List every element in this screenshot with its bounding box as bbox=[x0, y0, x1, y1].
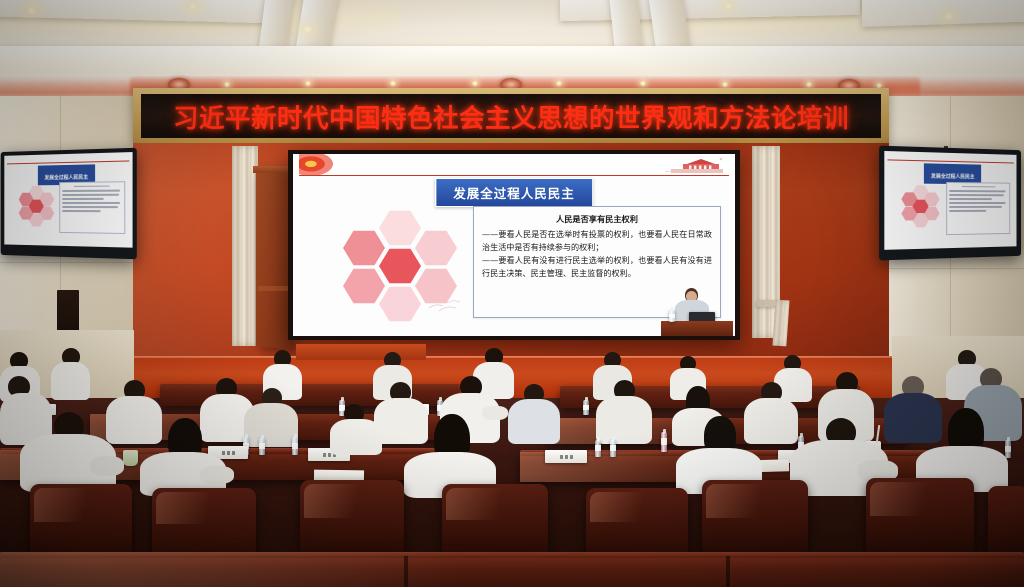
ceiling-downlight bbox=[24, 6, 39, 14]
podium-shelf bbox=[258, 286, 292, 291]
wall-seam bbox=[889, 268, 1024, 269]
hex-cell bbox=[415, 230, 457, 266]
chair bbox=[988, 486, 1024, 556]
chair bbox=[586, 488, 688, 556]
wall-monitor-right: 发展全过程人民民主 bbox=[879, 146, 1021, 261]
wall-monitor-left: 发展全过程人民民主 bbox=[1, 148, 137, 259]
water-bottle bbox=[259, 438, 265, 455]
soffit-pinlight bbox=[224, 82, 230, 87]
soffit-pinlight bbox=[722, 82, 728, 87]
textbox-paragraph: ——要看人民是否在选举时有投票的权利，也要看人民在日常政治生活中是否有持续参与的… bbox=[482, 228, 712, 253]
presenter-at-desk bbox=[661, 284, 733, 336]
monitor-hex-diagram bbox=[19, 185, 60, 231]
textbox-heading: 人民是否享有民主权利 bbox=[482, 213, 712, 225]
attendee bbox=[244, 388, 298, 444]
attendee bbox=[508, 384, 560, 442]
soffit-pinlight bbox=[472, 81, 478, 86]
water-bottle bbox=[583, 400, 589, 415]
hex-cell bbox=[343, 268, 385, 304]
soffit-pinlight bbox=[305, 81, 311, 86]
hex-cell-center bbox=[379, 248, 421, 284]
monitor-slide-header bbox=[884, 151, 1016, 164]
banner-text: 习近平新时代中国特色社会主义思想的世界观和方法论培训 bbox=[173, 98, 849, 135]
presenter-desk bbox=[661, 321, 733, 336]
attendee bbox=[916, 408, 1008, 484]
attendee-torso bbox=[244, 403, 298, 447]
hex-cell bbox=[343, 230, 385, 266]
desk-seam bbox=[726, 556, 730, 587]
ceiling-downlight bbox=[942, 12, 956, 20]
monitor-slide-header bbox=[4, 152, 132, 164]
attendee bbox=[596, 380, 652, 442]
wall-seam bbox=[0, 262, 133, 263]
slide-header bbox=[293, 154, 735, 176]
water-bottle bbox=[595, 440, 601, 457]
monitor-hex-diagram bbox=[901, 185, 946, 234]
textbox-paragraph: ——要看人民有没有进行民主选举的权利，也要看人民有没有进行民主决策、民主管理、民… bbox=[482, 254, 712, 279]
soffit-pinlight bbox=[390, 81, 396, 86]
projection-screen: 发展全过程人民民主 人民是否享有民主权利 ——要看人民是否在选举时有投票的权利，… bbox=[293, 154, 735, 336]
water-bottle-pink bbox=[661, 432, 667, 452]
attendee bbox=[676, 416, 762, 488]
conference-hall-photo: 习近平新时代中国特色社会主义思想的世界观和方法论培训 bbox=[0, 0, 1024, 587]
monitor-slide-title-text: 发展全过程人民民主 bbox=[931, 174, 975, 181]
ceiling-beam-4 bbox=[648, 0, 690, 50]
curtain-tieback-right bbox=[756, 300, 776, 307]
attendee-torso bbox=[508, 399, 560, 444]
soffit-pinlight bbox=[806, 82, 812, 87]
attendee bbox=[330, 404, 382, 450]
slide-title-box: 发展全过程人民民主 bbox=[435, 178, 593, 207]
soffit-pinlight bbox=[556, 81, 562, 86]
hex-cell bbox=[379, 210, 421, 246]
attendee-torso bbox=[330, 419, 382, 455]
desk-seam bbox=[404, 556, 408, 587]
attendee bbox=[20, 412, 116, 486]
chair bbox=[152, 488, 256, 558]
attendee-torso bbox=[596, 396, 652, 444]
chair bbox=[702, 480, 808, 552]
attendee-arm bbox=[200, 466, 234, 484]
stage-curtain-left bbox=[232, 146, 258, 346]
attendee-torso bbox=[51, 362, 90, 400]
drink-cup-green bbox=[123, 450, 138, 466]
hex-decor-lines-icon bbox=[427, 294, 463, 314]
water-bottle bbox=[610, 440, 616, 457]
chair bbox=[300, 480, 404, 552]
ceiling-lower-band bbox=[0, 46, 1024, 76]
ceiling-downlight bbox=[300, 25, 314, 33]
led-banner: 习近平新时代中国特色社会主义思想的世界观和方法论培训 bbox=[141, 94, 881, 138]
attendee bbox=[404, 414, 496, 488]
slide-title-text: 发展全过程人民民主 bbox=[453, 186, 575, 201]
desk-nameplate bbox=[545, 450, 587, 463]
party-emblem-icon bbox=[299, 154, 333, 176]
attendee-arm bbox=[90, 456, 124, 476]
hex-diagram bbox=[341, 210, 461, 315]
chair bbox=[866, 478, 974, 552]
water-bottle bbox=[669, 310, 675, 322]
desk-gloss bbox=[0, 552, 1024, 587]
chair bbox=[30, 484, 132, 556]
hex-cell bbox=[379, 286, 421, 322]
attendee bbox=[140, 418, 226, 488]
ceiling-downlight bbox=[186, 3, 200, 10]
monitor-textbox bbox=[60, 181, 126, 234]
tiananmen-graphic-icon bbox=[663, 156, 727, 174]
ceiling-downlight bbox=[722, 2, 735, 9]
soffit-pinlight bbox=[640, 81, 646, 86]
chair bbox=[442, 484, 548, 554]
monitor-textbox bbox=[946, 181, 1010, 234]
attendee bbox=[50, 348, 90, 398]
water-bottle bbox=[292, 437, 298, 455]
